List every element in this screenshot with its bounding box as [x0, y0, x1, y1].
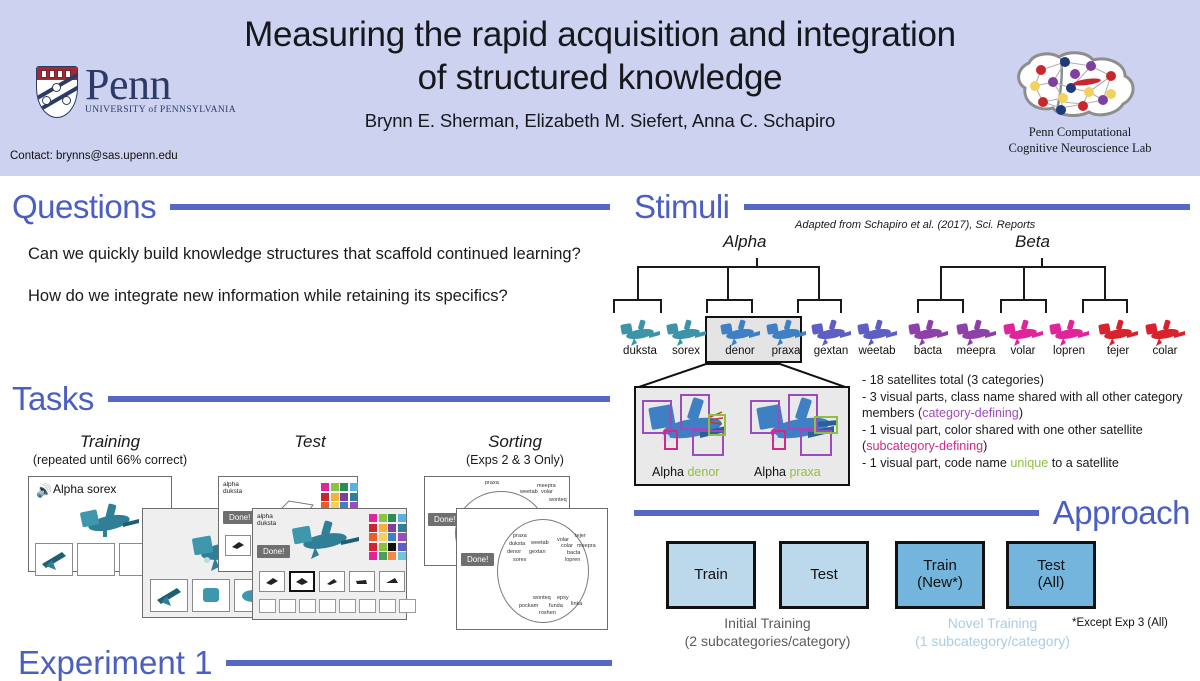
speaker-icon: 🔊 — [36, 483, 52, 499]
satellite-name-colar: colar — [1137, 345, 1193, 357]
stimuli-bullets: - 18 satellites total (3 categories) - 3… — [862, 372, 1197, 472]
sort-word[interactable]: gextan — [529, 549, 546, 555]
tree-line — [917, 299, 964, 301]
title-line-2: of structured knowledge — [418, 58, 783, 97]
part-box-category — [750, 400, 780, 434]
test-title: Test — [240, 432, 380, 452]
stimuli-detail-box: Alpha denor Alpha praxa — [634, 386, 850, 486]
training-option[interactable] — [35, 543, 73, 576]
satellite-icon-duksta — [618, 318, 662, 348]
tree-line — [706, 299, 753, 301]
approach-box-train-new: Train(New*) — [895, 541, 985, 609]
tree-line — [613, 299, 615, 313]
sort-word[interactable]: duksta — [509, 541, 525, 547]
sort-word[interactable]: pockam — [519, 603, 538, 609]
tree-line — [1082, 299, 1128, 301]
sort-word[interactable]: tejer — [575, 533, 586, 539]
training-label: Training (repeated until 66% correct) — [20, 432, 200, 467]
lab-name: Penn Computational Cognitive Neuroscienc… — [990, 124, 1170, 156]
contact-email: Contact: brynns@sas.upenn.edu — [10, 150, 178, 162]
training-option[interactable] — [150, 579, 188, 612]
alpha-tree-label: Alpha — [723, 232, 766, 252]
tree-line — [1000, 299, 1002, 313]
training-option[interactable] — [192, 579, 230, 612]
section-title-stimuli: Stimuli — [634, 190, 730, 223]
tree-line — [1000, 299, 1047, 301]
tree-line — [727, 266, 729, 301]
section-rule — [634, 510, 1039, 516]
lab-name-line-2: Cognitive Neuroscience Lab — [1008, 141, 1151, 155]
section-experiment1: Experiment 1 — [18, 646, 612, 679]
section-rule — [744, 204, 1190, 210]
sort-word[interactable]: meepra — [577, 543, 596, 549]
callout-connector — [634, 362, 850, 388]
detail-label-denor: Alpha denor — [652, 465, 719, 479]
section-questions: Questions — [12, 190, 610, 223]
sort-word[interactable]: sorex — [513, 557, 526, 563]
part-thumb[interactable] — [279, 599, 296, 613]
part-thumb[interactable] — [399, 599, 416, 613]
test-screen-front[interactable]: alphaduksta Done! — [252, 508, 407, 620]
bullet-item: - 1 visual part, code name unique to a s… — [862, 455, 1197, 472]
title-line-1: Measuring the rapid acquisition and inte… — [244, 15, 956, 54]
section-tasks: Tasks — [12, 382, 610, 415]
satellite-icon-meepra — [954, 318, 998, 348]
satellite-name-weetab: weetab — [849, 345, 905, 357]
sort-word[interactable]: wonteq — [549, 497, 567, 503]
section-rule — [170, 204, 610, 210]
training-option-row-back[interactable] — [35, 543, 157, 576]
bullet-item: - 1 visual part, color shared with one o… — [862, 422, 1197, 455]
satellite-icon-gextan — [809, 318, 853, 348]
done-button[interactable]: Done! — [257, 545, 290, 558]
beta-tree-label: Beta — [1015, 232, 1050, 252]
training-option[interactable] — [77, 543, 115, 576]
training-prompt: Alpha sorex — [53, 482, 116, 496]
penn-shield-icon — [36, 66, 78, 118]
sort-word[interactable]: volar — [541, 489, 553, 495]
sort-word[interactable]: roshen — [539, 610, 556, 616]
author-list: Brynn E. Sherman, Elizabeth M. Siefert, … — [240, 110, 960, 132]
title-block: Measuring the rapid acquisition and inte… — [240, 14, 960, 132]
tree-line — [917, 299, 919, 313]
sort-word[interactable]: bacta — [567, 550, 580, 556]
part-option[interactable] — [379, 571, 405, 592]
tree-line — [613, 299, 662, 301]
part-box-unique — [814, 416, 838, 434]
satellite-icon-lopren — [1047, 318, 1091, 348]
color-palette-front[interactable] — [369, 514, 406, 560]
sorting-subtitle: (Exps 2 & 3 Only) — [440, 453, 590, 467]
tree-line — [797, 299, 842, 301]
satellite-icon-weetab — [855, 318, 899, 348]
sort-word[interactable]: wonteq — [533, 595, 551, 601]
sort-word[interactable]: denor — [507, 549, 521, 555]
tree-line — [1126, 299, 1128, 313]
tree-line — [840, 299, 842, 313]
test-label: Test — [240, 432, 380, 452]
approach-box-test-all: Test(All) — [1006, 541, 1096, 609]
tree-line — [1104, 266, 1106, 301]
section-rule — [108, 396, 610, 402]
part-option-row[interactable] — [259, 571, 405, 592]
part-box-category — [642, 400, 672, 434]
sort-word[interactable]: praxa — [485, 480, 499, 486]
tree-line — [637, 266, 639, 301]
sort-word[interactable]: funda — [549, 603, 563, 609]
lab-logo: Penn Computational Cognitive Neuroscienc… — [990, 48, 1170, 156]
test-label-text: alphaduksta — [223, 481, 242, 496]
sorting-label: Sorting (Exps 2 & 3 Only) — [440, 432, 590, 467]
training-title: Training — [20, 432, 200, 452]
sort-word[interactable]: epsy — [557, 595, 569, 601]
penn-logo: Penn UNIVERSITY of PENNSYLVANIA — [36, 66, 236, 118]
tree-line — [751, 299, 753, 313]
part-option[interactable] — [349, 571, 375, 592]
satellite-image — [73, 501, 145, 541]
tree-line — [706, 299, 708, 313]
satellite-icon-volar — [1001, 318, 1045, 348]
part-box-category — [680, 394, 710, 430]
question-1: Can we quickly build knowledge structure… — [28, 243, 588, 265]
questions-body: Can we quickly build knowledge structure… — [28, 243, 588, 328]
tree-line — [1045, 299, 1047, 313]
approach-caption-initial: Initial Training(2 subcategories/categor… — [650, 615, 885, 650]
sort-word[interactable]: praxa — [513, 533, 527, 539]
stimuli-attribution: Adapted from Schapiro et al. (2017), Sci… — [795, 219, 1035, 231]
bullet-item: - 3 visual parts, class name shared with… — [862, 389, 1197, 422]
part-option[interactable] — [225, 535, 251, 556]
part-option[interactable] — [259, 571, 285, 592]
satellite-name-lopren: lopren — [1041, 345, 1097, 357]
done-button[interactable]: Done! — [461, 553, 494, 566]
part-thumb[interactable] — [339, 599, 356, 613]
poster-header: Penn UNIVERSITY of PENNSYLVANIA Contact:… — [0, 0, 1200, 176]
penn-wordmark: Penn — [85, 66, 236, 104]
section-approach: Approach — [634, 496, 1190, 529]
sort-word[interactable]: weetab — [520, 489, 538, 495]
satellite-icon-colar — [1143, 318, 1187, 348]
part-box-subcategory — [772, 430, 786, 450]
section-title-questions: Questions — [12, 190, 156, 223]
bullet-item: - 18 satellites total (3 categories) — [862, 372, 1197, 389]
tree-line — [962, 299, 964, 313]
approach-box-test: Test — [779, 541, 869, 609]
part-thumb[interactable] — [379, 599, 396, 613]
tree-line — [797, 299, 799, 313]
sort-word[interactable]: colar — [561, 543, 573, 549]
sort-word[interactable]: lopren — [565, 557, 580, 563]
section-title-tasks: Tasks — [12, 382, 94, 415]
satellite-icon-praxa — [764, 318, 808, 348]
sort-word[interactable]: weetab — [531, 540, 549, 546]
satellite-name-row: dukstasorexdenorpraxagextanweetabbactame… — [606, 345, 1166, 363]
detail-label-praxa: Alpha praxa — [754, 465, 821, 479]
brain-network-icon — [990, 48, 1170, 122]
tree-line — [1023, 266, 1025, 301]
question-2: How do we integrate new information whil… — [28, 285, 588, 307]
test-label-text: alphaduksta — [257, 513, 276, 528]
part-thumb[interactable] — [319, 599, 336, 613]
sort-word[interactable]: linka — [571, 601, 582, 607]
sorting-screen-front[interactable]: Done! praxa duksta weetab denor gextan s… — [456, 508, 608, 630]
penn-subtitle: UNIVERSITY of PENNSYLVANIA — [85, 105, 236, 115]
page-title: Measuring the rapid acquisition and inte… — [240, 14, 960, 99]
tree-line — [1082, 299, 1084, 313]
sorting-title: Sorting — [440, 432, 590, 452]
tree-line — [818, 266, 820, 301]
satellite-icon-sorex — [664, 318, 708, 348]
part-option-selected[interactable] — [289, 571, 315, 592]
tree-line — [940, 266, 942, 301]
lab-name-line-1: Penn Computational — [1029, 125, 1131, 139]
satellite-image — [287, 519, 363, 563]
section-rule — [226, 660, 612, 666]
training-subtitle: (repeated until 66% correct) — [20, 453, 200, 467]
part-thumb[interactable] — [299, 599, 316, 613]
part-thumb-row[interactable] — [259, 599, 416, 613]
approach-footnote: *Except Exp 3 (All) — [1072, 617, 1168, 629]
approach-box-train: Train — [666, 541, 756, 609]
satellite-name-sorex: sorex — [658, 345, 714, 357]
part-box-unique — [708, 414, 726, 436]
satellite-icon-bacta — [906, 318, 950, 348]
satellite-icon-tejer — [1096, 318, 1140, 348]
section-title-approach: Approach — [1053, 496, 1190, 529]
section-title-experiment1: Experiment 1 — [18, 646, 212, 679]
part-thumb[interactable] — [359, 599, 376, 613]
part-box-subcategory — [664, 430, 678, 450]
part-option[interactable] — [319, 571, 345, 592]
tree-line — [660, 299, 662, 313]
satellite-icon-denor — [718, 318, 762, 348]
part-thumb[interactable] — [259, 599, 276, 613]
